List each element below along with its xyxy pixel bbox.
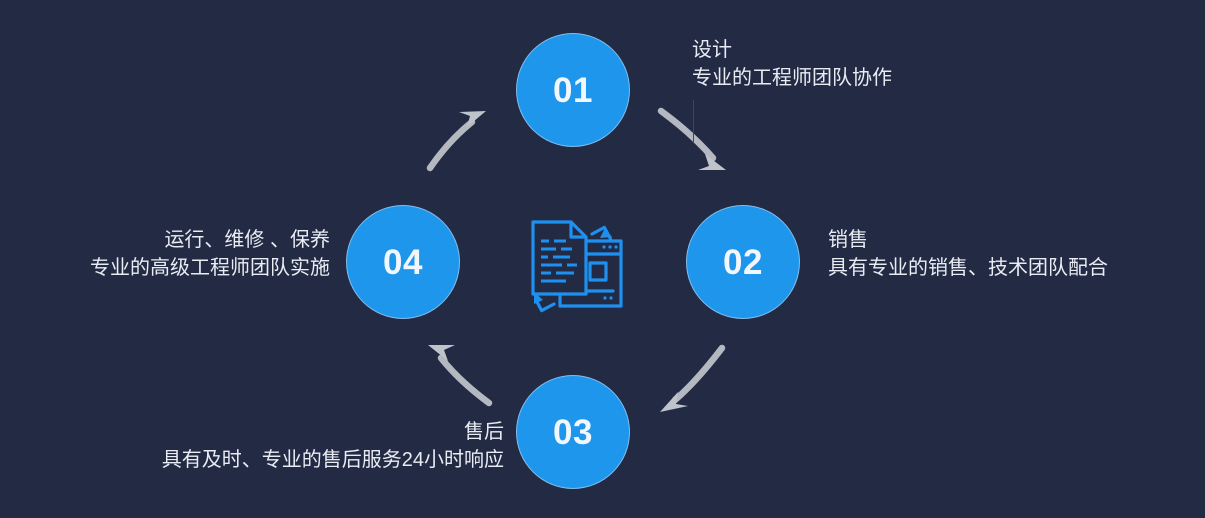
service-cycle-diagram: 01 02 03 04 设计 专业的工程师团队协作 销售 具有专业的销售、技术团… — [0, 0, 1205, 518]
step-node-03[interactable]: 03 — [516, 375, 630, 489]
document-window-refresh-icon — [533, 222, 621, 311]
step-title-04: 运行、维修 、保养 — [90, 226, 330, 254]
divider-tick — [693, 100, 694, 142]
step-desc-02: 具有专业的销售、技术团队配合 — [828, 254, 1108, 282]
step-label-02: 销售 具有专业的销售、技术团队配合 — [828, 226, 1108, 283]
step-label-01: 设计 专业的工程师团队协作 — [692, 36, 892, 93]
step-number-02: 02 — [723, 245, 763, 280]
step-node-01[interactable]: 01 — [516, 33, 630, 147]
step-desc-01: 专业的工程师团队协作 — [692, 64, 892, 92]
step-label-03: 售后 具有及时、专业的售后服务24小时响应 — [162, 418, 504, 475]
step-number-03: 03 — [553, 415, 593, 450]
step-title-03: 售后 — [162, 418, 504, 446]
step-desc-03: 具有及时、专业的售后服务24小时响应 — [162, 446, 504, 474]
step-label-04: 运行、维修 、保养 专业的高级工程师团队实施 — [90, 226, 330, 283]
step-title-02: 销售 — [828, 226, 1108, 254]
step-number-04: 04 — [383, 245, 423, 280]
step-node-02[interactable]: 02 — [686, 205, 800, 319]
step-title-01: 设计 — [692, 36, 892, 64]
step-number-01: 01 — [553, 73, 593, 108]
step-node-04[interactable]: 04 — [346, 205, 460, 319]
step-desc-04: 专业的高级工程师团队实施 — [90, 254, 330, 282]
